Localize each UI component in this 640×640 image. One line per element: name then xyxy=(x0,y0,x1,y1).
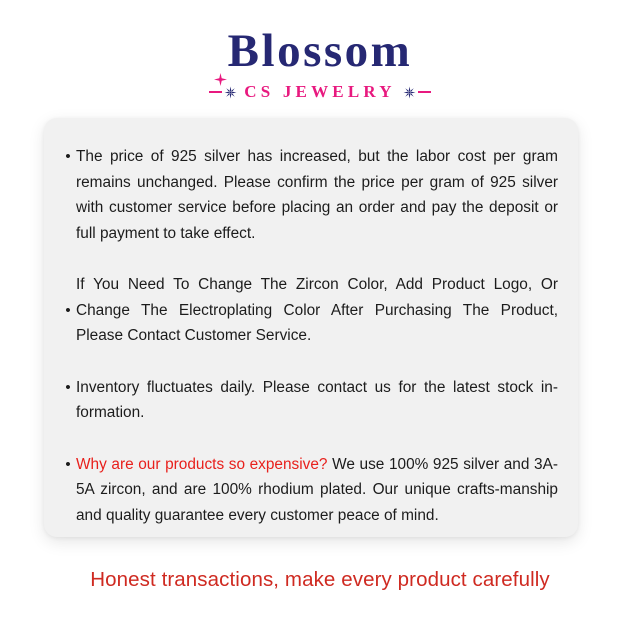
flower-icon xyxy=(224,86,237,99)
sparkle-icon xyxy=(214,48,227,61)
ornament-dash-left xyxy=(209,91,222,93)
brand-header: Blossom xyxy=(0,0,640,102)
notice-text: Why are our products so expensive? We us… xyxy=(76,452,560,529)
notice-list: • The price of 925 silver has increased,… xyxy=(60,144,560,528)
brand-subtitle-text: CS JEWELRY xyxy=(244,82,395,102)
brand-ornament-right xyxy=(403,86,431,99)
brand-ornament-left xyxy=(209,86,237,99)
bullet-icon: • xyxy=(60,452,76,478)
bullet-icon: • xyxy=(60,375,76,401)
bullet-icon: • xyxy=(60,303,76,318)
notice-card: • The price of 925 silver has increased,… xyxy=(44,118,578,537)
flower-icon xyxy=(403,86,416,99)
list-item: • The price of 925 silver has increased,… xyxy=(60,144,560,246)
brand-wordmark: Blossom xyxy=(218,28,423,75)
notice-text: The price of 925 silver has increased, b… xyxy=(76,144,560,246)
brand-wordmark-text: Blossom xyxy=(228,25,413,77)
ornament-dash-right xyxy=(418,91,431,93)
footer-tagline: Honest transactions, make every product … xyxy=(0,568,640,592)
list-item: • Why are our products so expensive? We … xyxy=(60,452,560,529)
bullet-icon: • xyxy=(60,144,76,170)
notice-highlight: Why are our products so expensive? xyxy=(76,456,327,473)
list-item: • Inventory fluctuates daily. Please con… xyxy=(60,375,560,426)
notice-text: If You Need To Change The Zircon Color, … xyxy=(76,272,560,349)
brand-subtitle: CS JEWELRY xyxy=(0,82,640,102)
notice-text: Inventory fluctuates daily. Please conta… xyxy=(76,375,560,426)
list-item: • If You Need To Change The Zircon Color… xyxy=(60,272,560,349)
